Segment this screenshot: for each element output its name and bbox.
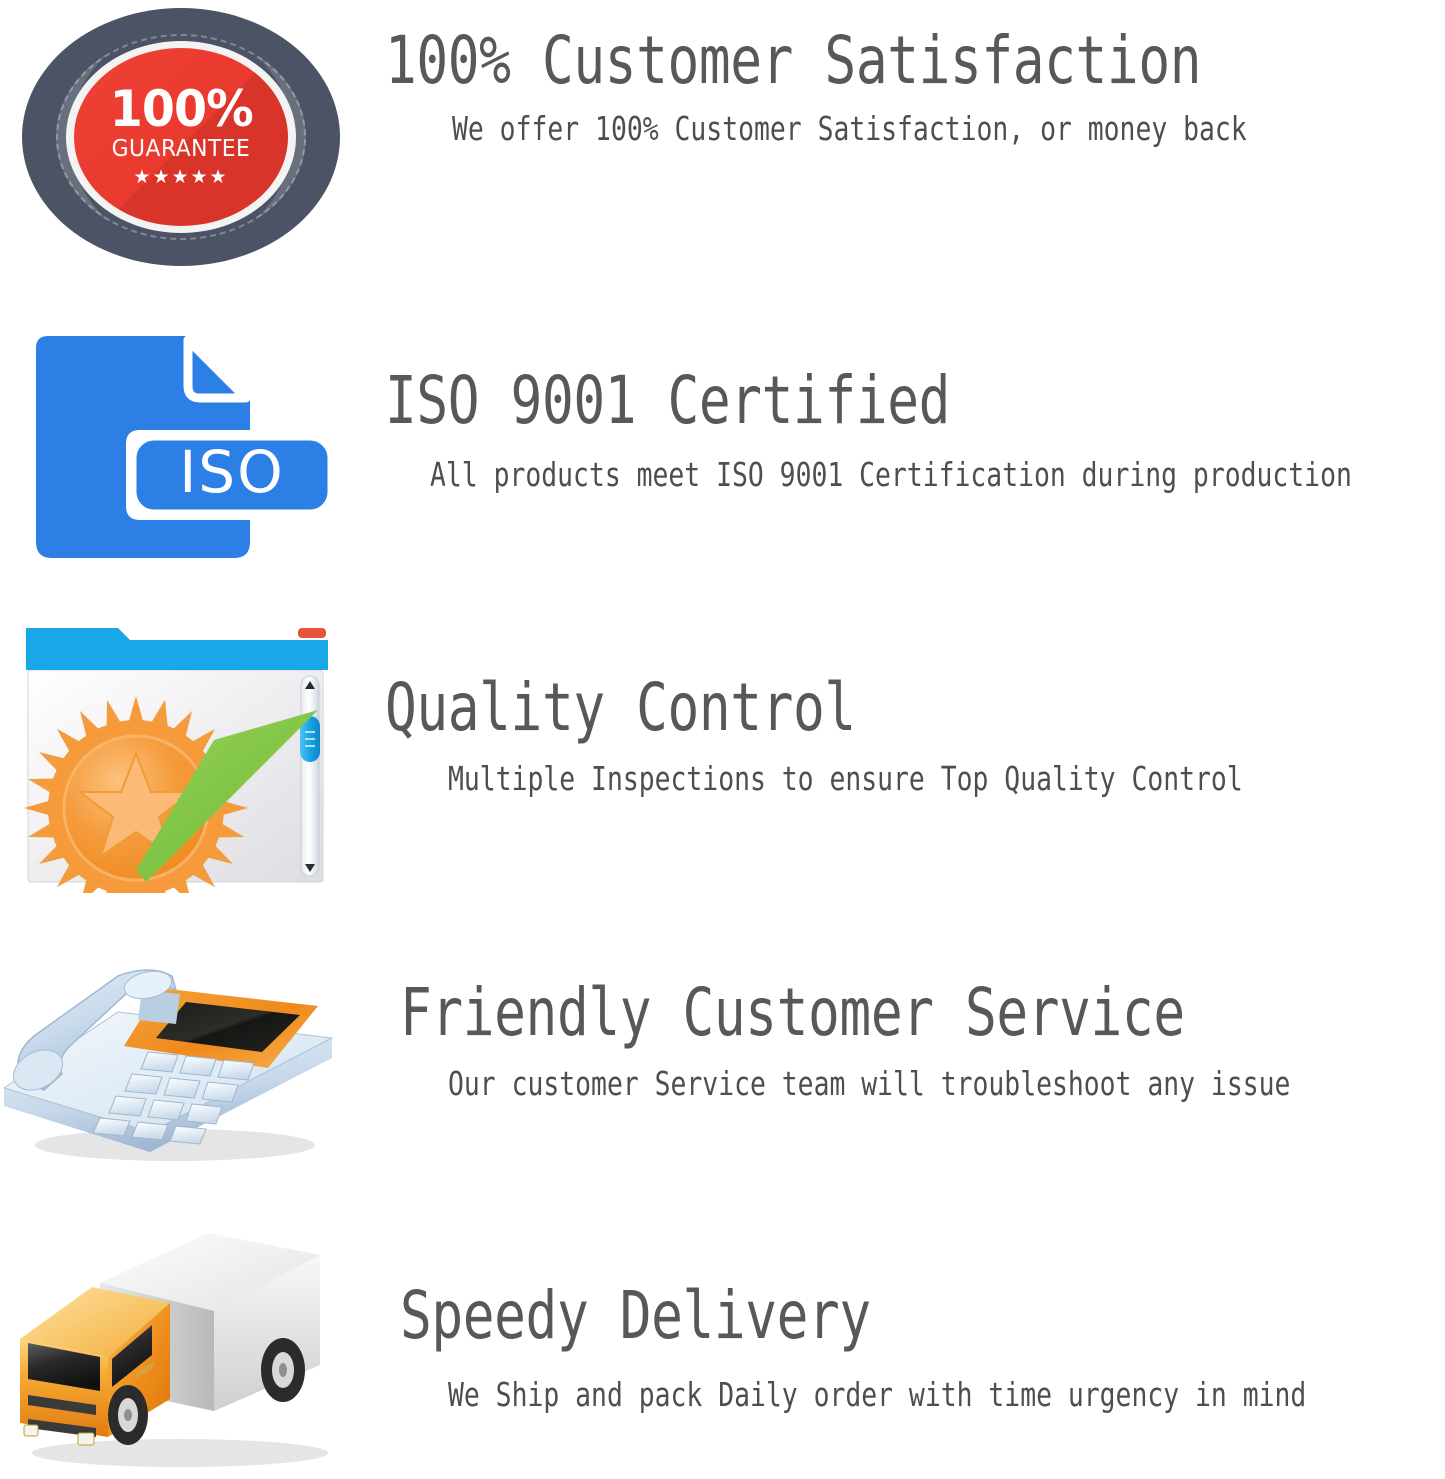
feature-subtitle: Our customer Service team will troublesh… xyxy=(448,1067,1290,1100)
feature-subtitle-wrap-quality: Multiple Inspections to ensure Top Quali… xyxy=(448,762,1441,795)
iso-document-icon: ISO xyxy=(28,330,343,575)
feature-title: 100% Customer Satisfaction xyxy=(385,28,1201,94)
feature-subtitle-wrap-delivery: We Ship and pack Daily order with time u… xyxy=(448,1378,1445,1411)
badge-stars: ★★★★★ xyxy=(133,168,228,187)
qc-titlebar-accent xyxy=(298,628,326,638)
truck-shadow xyxy=(32,1439,328,1467)
feature-subtitle: Multiple Inspections to ensure Top Quali… xyxy=(448,762,1243,795)
telephone-svg xyxy=(0,940,360,1170)
feature-row-delivery: Speedy Delivery We Ship and pack Daily o… xyxy=(0,1215,1445,1479)
delivery-truck-icon xyxy=(0,1215,365,1475)
feature-subtitle: We Ship and pack Daily order with time u… xyxy=(448,1378,1306,1411)
feature-title: ISO 9001 Certified xyxy=(385,368,950,434)
feature-row-iso: ISO ISO 9001 Certified All products meet… xyxy=(0,300,1445,600)
truck-svg xyxy=(0,1215,365,1475)
feature-title: Speedy Delivery xyxy=(400,1283,871,1349)
feature-text-satisfaction: 100% Customer Satisfaction xyxy=(385,28,1405,94)
truck-front-wheel xyxy=(108,1385,148,1445)
feature-text-iso: ISO 9001 Certified xyxy=(385,368,1091,434)
desk-telephone-icon xyxy=(0,940,360,1170)
feature-row-satisfaction: 100% GUARANTEE ★★★★★ 100% Customer Satis… xyxy=(0,0,1445,300)
feature-subtitle-wrap-iso: All products meet ISO 9001 Certification… xyxy=(430,458,1445,491)
feature-text-service: Friendly Customer Service xyxy=(400,980,1381,1046)
guarantee-badge-icon: 100% GUARANTEE ★★★★★ xyxy=(22,8,340,266)
qc-scrollbar-track[interactable] xyxy=(301,676,319,876)
feature-title: Friendly Customer Service xyxy=(400,980,1185,1046)
feature-list: 100% GUARANTEE ★★★★★ 100% Customer Satis… xyxy=(0,0,1445,1479)
truck-rear-wheel xyxy=(261,1338,305,1402)
feature-row-service: Friendly Customer Service Our customer S… xyxy=(0,930,1445,1215)
badge-guarantee-label: GUARANTEE xyxy=(112,138,251,161)
iso-fold-corner xyxy=(188,340,246,398)
feature-text-delivery: Speedy Delivery xyxy=(400,1283,989,1349)
feature-row-quality: Quality Control Multiple Inspections to … xyxy=(0,600,1445,930)
iso-badge-label: ISO xyxy=(179,438,285,506)
feature-subtitle-wrap-service: Our customer Service team will troublesh… xyxy=(448,1067,1445,1100)
badge-red-face: 100% GUARANTEE ★★★★★ xyxy=(74,48,288,226)
quality-control-svg xyxy=(18,618,348,893)
qc-titlebar xyxy=(26,628,328,670)
feature-text-quality: Quality Control xyxy=(385,675,974,741)
feature-title: Quality Control xyxy=(385,675,856,741)
feature-subtitle: We offer 100% Customer Satisfaction, or … xyxy=(452,112,1247,145)
iso-document-svg: ISO xyxy=(28,330,343,575)
badge-percent-label: 100% xyxy=(110,84,253,134)
feature-subtitle-wrap-satisfaction: We offer 100% Customer Satisfaction, or … xyxy=(452,112,1445,145)
feature-subtitle: All products meet ISO 9001 Certification… xyxy=(430,458,1352,491)
quality-control-window-icon xyxy=(18,618,348,893)
